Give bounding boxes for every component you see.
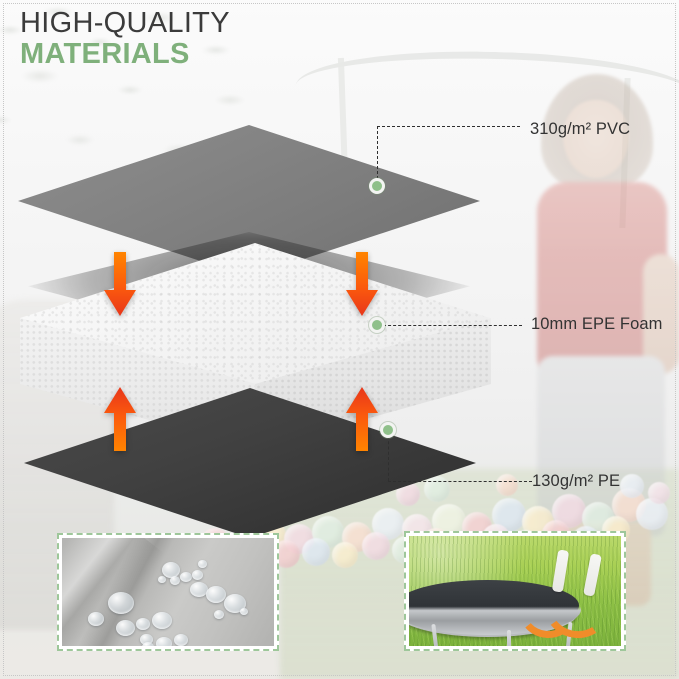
inset-waterproof-fabric[interactable] (57, 533, 279, 651)
ball-pit-ball (332, 542, 358, 568)
water-droplet (198, 560, 207, 568)
infographic-canvas: HIGH-QUALITY MATERIALS (0, 0, 679, 679)
callout-label-pe: 130g/m² PE (532, 472, 620, 491)
water-droplet (142, 642, 154, 646)
marker-dot-pe (380, 422, 396, 438)
ball-pit-ball (362, 532, 390, 560)
ball-pit-ball (620, 474, 644, 498)
water-droplet (108, 592, 134, 614)
waterproof-fabric-photo (62, 538, 274, 646)
water-droplet (88, 612, 104, 626)
water-droplet (192, 570, 203, 580)
material-layer-stack (0, 0, 520, 520)
fabric-surface (62, 538, 274, 646)
inset-trampoline-grass[interactable] (404, 531, 626, 651)
water-droplet (240, 608, 248, 615)
marker-dot-pvc (369, 178, 385, 194)
callout-label-foam: 10mm EPE Foam (531, 315, 663, 334)
compression-arrow-up-left (103, 385, 137, 451)
water-droplet (152, 612, 172, 629)
trampoline-leg (507, 630, 511, 646)
water-droplet (156, 637, 172, 646)
water-droplet (136, 618, 150, 630)
water-droplet (206, 586, 226, 603)
water-droplet (214, 610, 224, 619)
trampoline-grass-photo (409, 536, 621, 646)
marker-dot-foam (369, 317, 385, 333)
fabric-fold (62, 538, 165, 646)
water-droplet (116, 620, 135, 636)
callout-label-pvc: 310g/m² PVC (530, 120, 630, 139)
water-droplet (180, 572, 192, 582)
water-droplet (174, 634, 188, 646)
ball-pit-ball (302, 538, 330, 566)
compression-arrow-down-left (103, 252, 137, 318)
compression-arrow-down-right (345, 252, 379, 318)
water-droplet (170, 576, 180, 585)
water-droplet (158, 576, 166, 583)
ball-pit-ball (648, 482, 670, 504)
compression-arrow-up-right (345, 385, 379, 451)
